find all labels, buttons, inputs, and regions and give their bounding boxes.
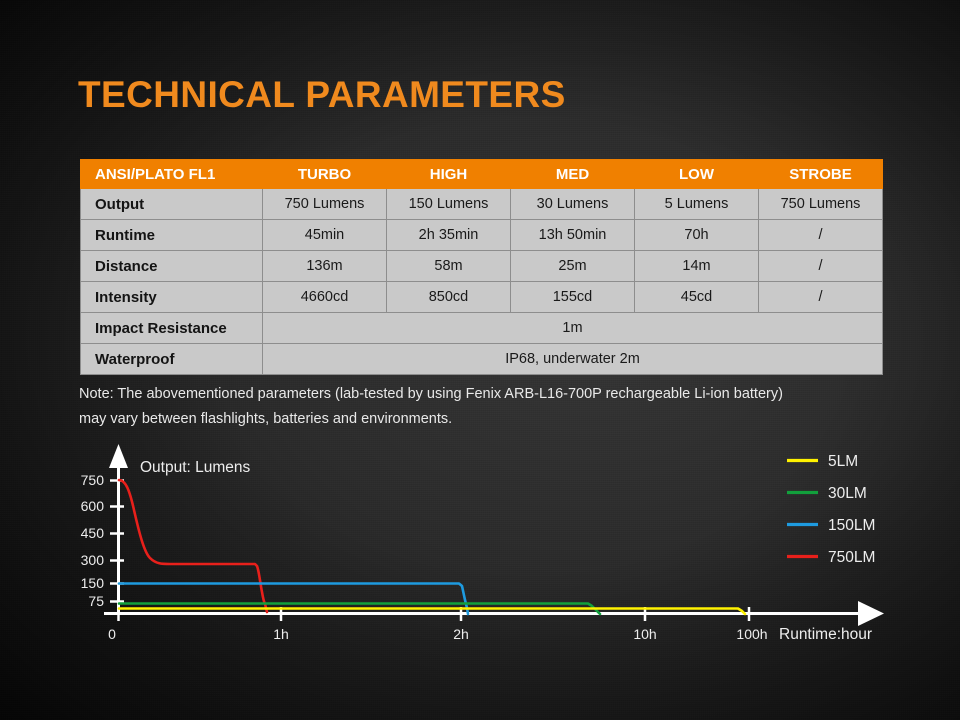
table-body: Output 750 Lumens 150 Lumens 30 Lumens 5… xyxy=(81,189,883,375)
x-axis-arrow-icon xyxy=(858,601,884,626)
legend-label-30lm: 30LM xyxy=(828,485,867,502)
cell-output-high: 150 Lumens xyxy=(387,189,511,220)
cell-runtime-high: 2h 35min xyxy=(387,220,511,251)
y-tick-label-150: 150 xyxy=(81,575,105,591)
cell-intensity-low: 45cd xyxy=(635,282,759,313)
cell-output-turbo: 750 Lumens xyxy=(263,189,387,220)
y-tick-label-75: 75 xyxy=(88,593,104,609)
row-label-intensity: Intensity xyxy=(81,282,263,313)
cell-distance-low: 14m xyxy=(635,251,759,282)
x-tick-label-10h: 10h xyxy=(633,626,656,642)
specifications-table: ANSI/PLATO FL1 TURBO HIGH MED LOW STROBE… xyxy=(80,159,883,375)
table-row: Runtime 45min 2h 35min 13h 50min 70h / xyxy=(81,220,883,251)
cell-waterproof-value: IP68, underwater 2m xyxy=(263,344,883,375)
runtime-chart: 750 600 450 300 150 75 0 1h 2h 10h 100h xyxy=(0,440,960,655)
x-tick-label-2h: 2h xyxy=(453,626,469,642)
table-header-row: ANSI/PLATO FL1 TURBO HIGH MED LOW STROBE xyxy=(81,160,883,189)
table-row: Impact Resistance 1m xyxy=(81,313,883,344)
cell-distance-high: 58m xyxy=(387,251,511,282)
legend-item-750lm: 750LM xyxy=(787,549,875,566)
cell-output-low: 5 Lumens xyxy=(635,189,759,220)
cell-runtime-med: 13h 50min xyxy=(511,220,635,251)
note-block: Note: The abovementioned parameters (lab… xyxy=(79,382,899,432)
note-line-2: may vary between flashlights, batteries … xyxy=(79,407,899,432)
cell-intensity-med: 155cd xyxy=(511,282,635,313)
table-header-ansi: ANSI/PLATO FL1 xyxy=(81,160,263,189)
legend-item-5lm: 5LM xyxy=(787,453,858,470)
x-tick-label-1h: 1h xyxy=(273,626,289,642)
cell-runtime-low: 70h xyxy=(635,220,759,251)
legend-item-30lm: 30LM xyxy=(787,485,867,502)
series-line-750lm xyxy=(119,480,267,612)
cell-distance-strobe: / xyxy=(759,251,883,282)
table-header-high: HIGH xyxy=(387,160,511,189)
y-tick-label-750: 750 xyxy=(81,472,105,488)
x-axis-tick-labels: 0 1h 2h 10h 100h xyxy=(108,626,767,642)
slide-root: TECHNICAL PARAMETERS ANSI/PLATO FL1 TURB… xyxy=(0,0,960,720)
table-header: ANSI/PLATO FL1 TURBO HIGH MED LOW STROBE xyxy=(81,160,883,189)
legend-label-5lm: 5LM xyxy=(828,453,858,470)
cell-impact-resistance-value: 1m xyxy=(263,313,883,344)
x-tick-label-0: 0 xyxy=(108,626,116,642)
table-row: Intensity 4660cd 850cd 155cd 45cd / xyxy=(81,282,883,313)
cell-intensity-high: 850cd xyxy=(387,282,511,313)
cell-intensity-strobe: / xyxy=(759,282,883,313)
legend-label-150lm: 150LM xyxy=(828,517,875,534)
row-label-runtime: Runtime xyxy=(81,220,263,251)
y-tick-label-300: 300 xyxy=(81,552,105,568)
cell-runtime-turbo: 45min xyxy=(263,220,387,251)
table-row: Distance 136m 58m 25m 14m / xyxy=(81,251,883,282)
y-axis-tick-labels: 750 600 450 300 150 75 xyxy=(81,472,105,609)
runtime-chart-svg: 750 600 450 300 150 75 0 1h 2h 10h 100h xyxy=(0,440,960,655)
y-axis-arrow-icon xyxy=(109,444,128,468)
cell-distance-med: 25m xyxy=(511,251,635,282)
page-title: TECHNICAL PARAMETERS xyxy=(78,74,566,116)
table-header-med: MED xyxy=(511,160,635,189)
cell-output-strobe: 750 Lumens xyxy=(759,189,883,220)
cell-distance-turbo: 136m xyxy=(263,251,387,282)
y-tick-label-450: 450 xyxy=(81,525,105,541)
chart-legend: 5LM 30LM 150LM 750LM xyxy=(787,453,875,566)
row-label-waterproof: Waterproof xyxy=(81,344,263,375)
row-label-impact-resistance: Impact Resistance xyxy=(81,313,263,344)
row-label-distance: Distance xyxy=(81,251,263,282)
legend-label-750lm: 750LM xyxy=(828,549,875,566)
x-axis-title: Runtime:hour xyxy=(779,626,872,643)
table-header-strobe: STROBE xyxy=(759,160,883,189)
row-label-output: Output xyxy=(81,189,263,220)
note-line-1: Note: The abovementioned parameters (lab… xyxy=(79,382,899,407)
cell-output-med: 30 Lumens xyxy=(511,189,635,220)
table-header-turbo: TURBO xyxy=(263,160,387,189)
y-tick-label-600: 600 xyxy=(81,498,105,514)
cell-runtime-strobe: / xyxy=(759,220,883,251)
legend-item-150lm: 150LM xyxy=(787,517,875,534)
table-header-low: LOW xyxy=(635,160,759,189)
table-row: Output 750 Lumens 150 Lumens 30 Lumens 5… xyxy=(81,189,883,220)
cell-intensity-turbo: 4660cd xyxy=(263,282,387,313)
y-axis-title: Output: Lumens xyxy=(140,459,251,476)
x-tick-label-100h: 100h xyxy=(736,626,767,642)
table-row: Waterproof IP68, underwater 2m xyxy=(81,344,883,375)
